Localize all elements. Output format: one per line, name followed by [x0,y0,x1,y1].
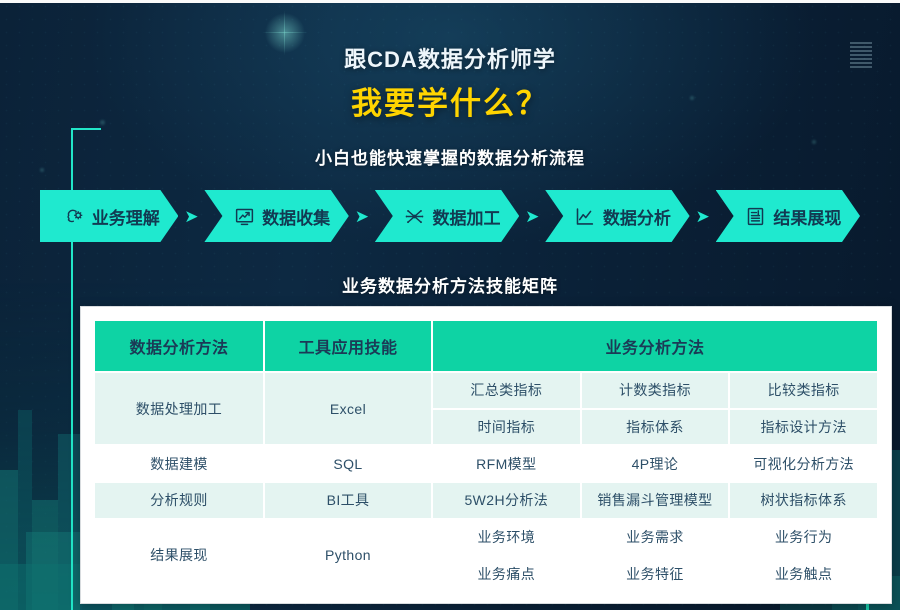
cell-business: 销售漏斗管理模型 [582,483,729,518]
cell-business: 业务需求 [582,520,729,555]
cell-business: 比较类指标 [730,373,877,408]
cell-business: RFM模型 [433,446,580,481]
cell-business: 计数类指标 [582,373,729,408]
process-arrow-icon: ➤ [178,208,204,225]
process-step-数据分析[interactable]: 数据分析 [545,190,689,242]
cell-business: 5W2H分析法 [433,483,580,518]
process-flow: 业务理解 ➤ 数据收集 ➤ [40,188,860,244]
table-row: 分析规则 BI工具 5W2H分析法 销售漏斗管理模型 树状指标体系 [95,483,877,518]
slide-canvas: 跟CDA数据分析师学 我要学什么？ 小白也能快速掌握的数据分析流程 业务理解 ➤ [0,0,900,610]
skill-matrix-table: 数据分析方法 工具应用技能 业务分析方法 数据处理加工 Excel 汇总类指标 … [93,319,879,593]
column-header-tool: 工具应用技能 [265,321,431,371]
cell-business: 指标体系 [582,410,729,445]
cell-method: 数据建模 [95,446,263,481]
cell-business: 时间指标 [433,410,580,445]
cell-business: 业务特征 [582,556,729,591]
top-edge-strip [0,0,900,3]
table-row: 数据建模 SQL RFM模型 4P理论 可视化分析方法 [95,446,877,481]
cell-tool: SQL [265,446,431,481]
table-header-row: 数据分析方法 工具应用技能 业务分析方法 [95,321,877,371]
cell-method: 分析规则 [95,483,263,518]
matrix-panel: 数据分析方法 工具应用技能 业务分析方法 数据处理加工 Excel 汇总类指标 … [80,306,892,604]
brain-gear-icon [63,205,85,227]
page-title: 我要学什么？ [0,78,900,123]
cell-business: 树状指标体系 [730,483,877,518]
cell-business: 业务环境 [433,520,580,555]
process-step-label: 数据加工 [433,204,501,229]
process-arrow-icon: ➤ [349,208,375,225]
process-step-label: 数据收集 [262,204,330,229]
accent-horizontal-line [71,128,101,130]
document-report-icon [744,205,766,227]
cell-business: 可视化分析方法 [730,446,877,481]
cell-tool: Python [265,520,431,591]
subtitle-text: 小白也能快速掌握的数据分析流程 [0,144,900,169]
matrix-title: 业务数据分析方法技能矩阵 [0,272,900,297]
monitor-chart-icon [233,205,255,227]
cell-business: 指标设计方法 [730,410,877,445]
process-step-label: 数据分析 [603,204,671,229]
kicker-text: 跟CDA数据分析师学 [0,42,900,74]
cell-business: 业务行为 [730,520,877,555]
column-header-method: 数据分析方法 [95,321,263,371]
process-arrow-icon: ➤ [690,208,716,225]
column-header-business: 业务分析方法 [433,321,877,371]
line-chart-icon [574,205,596,227]
process-arrow-icon: ➤ [519,208,545,225]
table-row: 结果展现 Python 业务环境 业务需求 业务行为 [95,520,877,555]
process-step-业务理解[interactable]: 业务理解 [40,190,178,242]
cell-method: 结果展现 [95,520,263,591]
process-step-数据收集[interactable]: 数据收集 [204,190,348,242]
cell-tool: BI工具 [265,483,431,518]
process-step-label: 结果展现 [773,204,841,229]
cell-business: 4P理论 [582,446,729,481]
table-row: 数据处理加工 Excel 汇总类指标 计数类指标 比较类指标 [95,373,877,408]
cell-business: 业务痛点 [433,556,580,591]
process-step-数据加工[interactable]: 数据加工 [375,190,519,242]
process-step-label: 业务理解 [92,204,160,229]
process-step-结果展现[interactable]: 结果展现 [716,190,860,242]
node-network-icon [404,205,426,227]
cell-method: 数据处理加工 [95,373,263,444]
cell-tool: Excel [265,373,431,444]
cell-business: 业务触点 [730,556,877,591]
cell-business: 汇总类指标 [433,373,580,408]
